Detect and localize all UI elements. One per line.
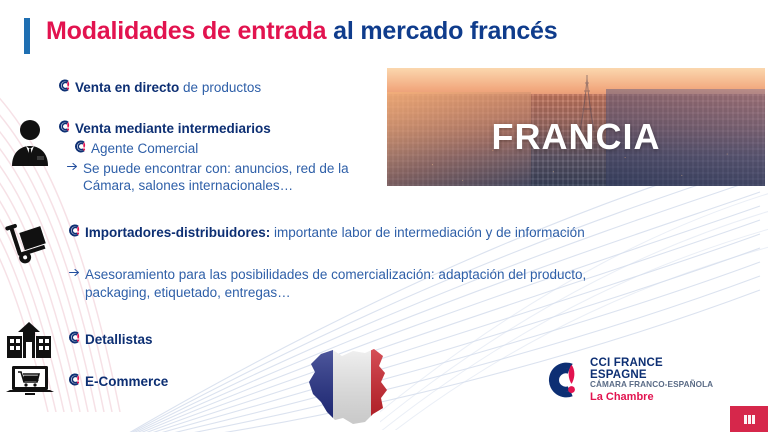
bullet-asesoramiento: Asesoramiento para las posibilidades de … xyxy=(68,266,628,302)
title-accent-bar xyxy=(24,18,30,54)
bullet-text: Venta en directo de productos xyxy=(75,79,261,96)
businessman-icon xyxy=(4,116,60,168)
bullet-agente-comercial: Agente Comercial xyxy=(74,140,198,157)
page-title-highlight: Modalidades de entrada xyxy=(46,17,326,45)
bullet-text: Importadores-distribuidores: importante … xyxy=(85,224,585,242)
cci-bullet-icon xyxy=(58,79,71,92)
france-map-flag xyxy=(295,340,410,428)
bullet-venta-intermediarios: Venta mediante intermediarios xyxy=(58,120,271,137)
cci-bullet-icon xyxy=(74,140,87,153)
bullet-text: Asesoramiento para las posibilidades de … xyxy=(85,266,628,302)
arrow-right-icon xyxy=(66,160,79,173)
cci-logo: CCI FRANCE ESPAGNE CÁMARA FRANCO-ESPAÑOL… xyxy=(540,356,720,404)
cci-logo-mark-icon xyxy=(540,359,582,401)
bullet-text: Se puede encontrar con: anuncios, red de… xyxy=(83,160,396,194)
flag-glyph-icon xyxy=(744,415,755,424)
page-title-rest: al mercado francés xyxy=(326,17,557,45)
bullet-text: Venta mediante intermediarios xyxy=(75,120,271,137)
arrow-right-icon xyxy=(68,266,81,279)
bullet-venta-directo: Venta en directo de productos xyxy=(58,79,261,96)
cci-logo-line2: CÁMARA FRANCO-ESPAÑOLA xyxy=(590,381,720,390)
francia-label: FRANCIA xyxy=(387,116,765,158)
hand-truck-icon xyxy=(4,216,60,264)
bullet-text: E-Commerce xyxy=(85,373,168,390)
cci-bullet-icon xyxy=(68,331,81,344)
cci-logo-line3: La Chambre xyxy=(590,392,720,404)
laptop-shopping-cart-icon xyxy=(4,362,60,402)
bullet-importadores-distribuidores: Importadores-distribuidores: importante … xyxy=(68,224,628,242)
cci-bullet-icon xyxy=(68,373,81,386)
corner-chip[interactable] xyxy=(730,406,768,432)
bullet-se-puede-encontrar: Se puede encontrar con: anuncios, red de… xyxy=(66,160,396,194)
bullet-text: Agente Comercial xyxy=(91,140,198,157)
bullet-detallistas: Detallistas xyxy=(68,331,153,348)
page-title: Modalidades de entrada al mercado francé… xyxy=(46,17,557,46)
cci-logo-text: CCI FRANCE ESPAGNE CÁMARA FRANCO-ESPAÑOL… xyxy=(590,357,720,404)
bullet-text: Detallistas xyxy=(85,331,153,348)
slide-canvas: Modalidades de entrada al mercado francé… xyxy=(0,0,768,432)
store-building-icon xyxy=(4,320,60,360)
cci-bullet-icon xyxy=(58,120,71,133)
cci-logo-line1: CCI FRANCE ESPAGNE xyxy=(590,357,720,381)
francia-hero-image: FRANCIA xyxy=(387,68,765,186)
cci-bullet-icon xyxy=(68,224,81,237)
bullet-ecommerce: E-Commerce xyxy=(68,373,168,390)
